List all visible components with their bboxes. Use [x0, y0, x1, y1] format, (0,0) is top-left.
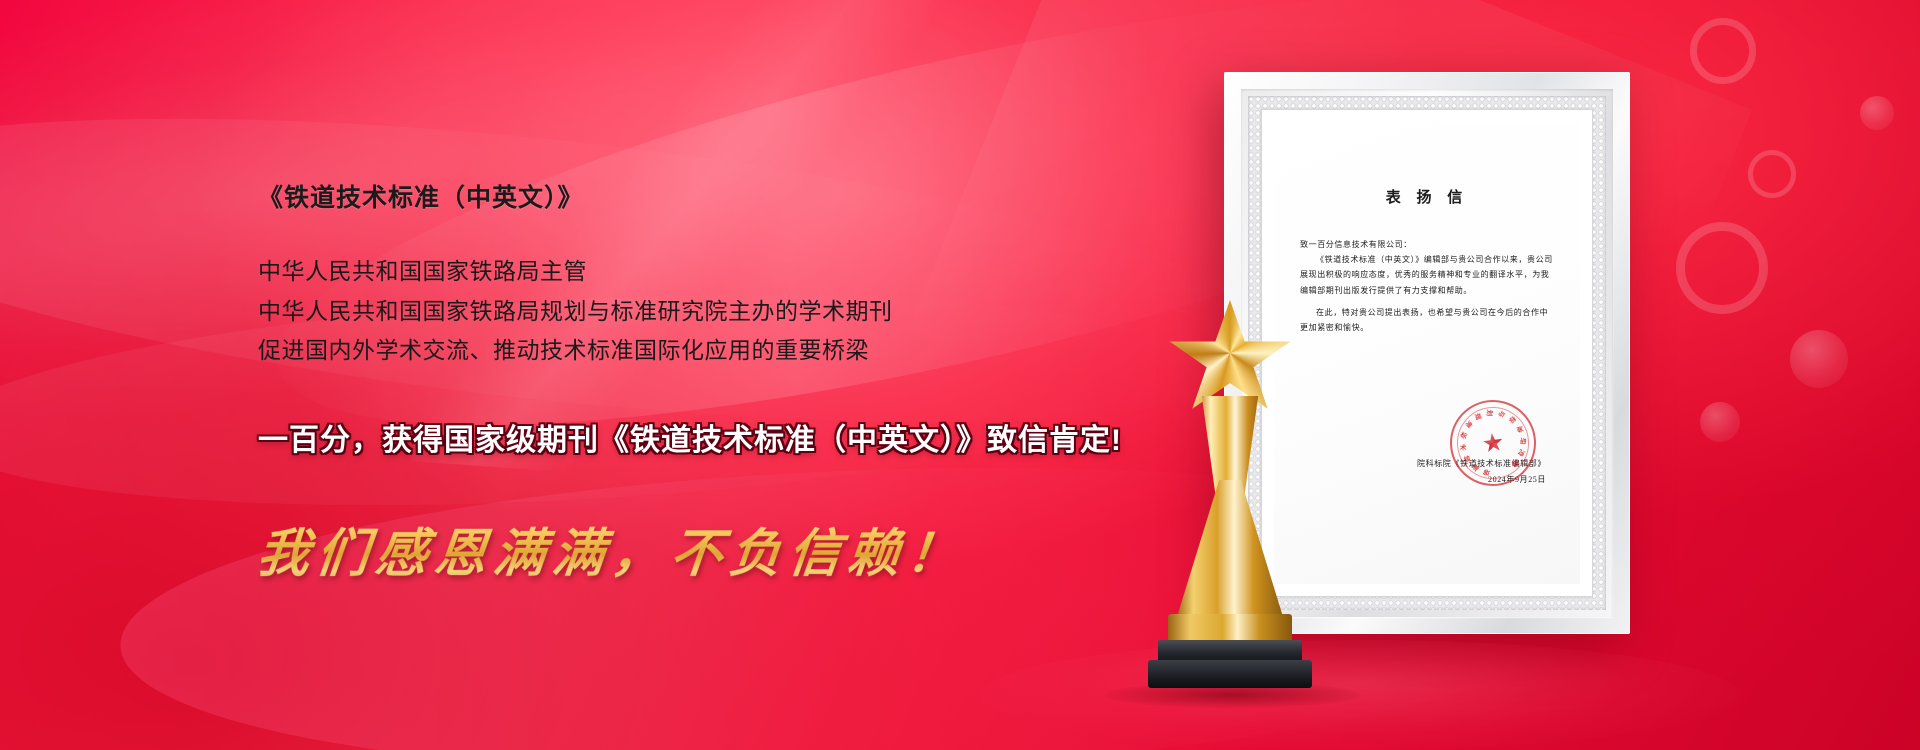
description-lines: 中华人民共和国国家铁路局主管 中华人民共和国国家铁路局规划与标准研究院主办的学术…: [258, 252, 1218, 371]
certificate-paragraph-1: 《铁道技术标准（中英文）》编辑部与贵公司合作以来，贵公司展现出积极的响应态度，优…: [1300, 252, 1554, 298]
certificate-salutation: 致一百分信息技术有限公司：: [1300, 237, 1554, 252]
bokeh-ring-3: [1676, 222, 1768, 314]
copy-block: 《铁道技术标准（中英文）》 中华人民共和国国家铁路局主管 中华人民共和国国家铁路…: [258, 178, 1218, 586]
banner-canvas: 《铁道技术标准（中英文）》 中华人民共和国国家铁路局主管 中华人民共和国国家铁路…: [0, 0, 1920, 750]
certificate-title: 表 扬 信: [1300, 186, 1554, 207]
journal-title: 《铁道技术标准（中英文）》: [258, 178, 1218, 214]
bokeh-ring-2: [1748, 150, 1796, 198]
bokeh-dot-2: [1700, 402, 1740, 442]
trophy-base-lower: [1148, 660, 1312, 688]
floor-glow: [980, 640, 1740, 750]
gold-star-trophy-icon: [1140, 300, 1320, 700]
certificate-paragraph-2: 在此，特对贵公司提出表扬，也希望与贵公司在今后的合作中更加紧密和愉快。: [1300, 305, 1554, 335]
bokeh-dot-3: [1860, 96, 1894, 130]
description-line-2: 中华人民共和国国家铁路局规划与标准研究院主办的学术期刊: [258, 292, 1218, 332]
headline: 一百分，获得国家级期刊《铁道技术标准（中英文）》致信肯定!: [258, 415, 1218, 459]
description-line-3: 促进国内外学术交流、推动技术标准国际化应用的重要桥梁: [258, 331, 1218, 371]
trophy-cone: [1176, 480, 1284, 620]
bokeh-ring-1: [1690, 18, 1756, 84]
calligraphy-slogan: 我们感恩满满，不负信赖！: [254, 511, 970, 586]
trophy-base-gold: [1168, 614, 1292, 642]
bokeh-dot-1: [1790, 330, 1848, 388]
description-line-1: 中华人民共和国国家铁路局主管: [258, 252, 1218, 292]
